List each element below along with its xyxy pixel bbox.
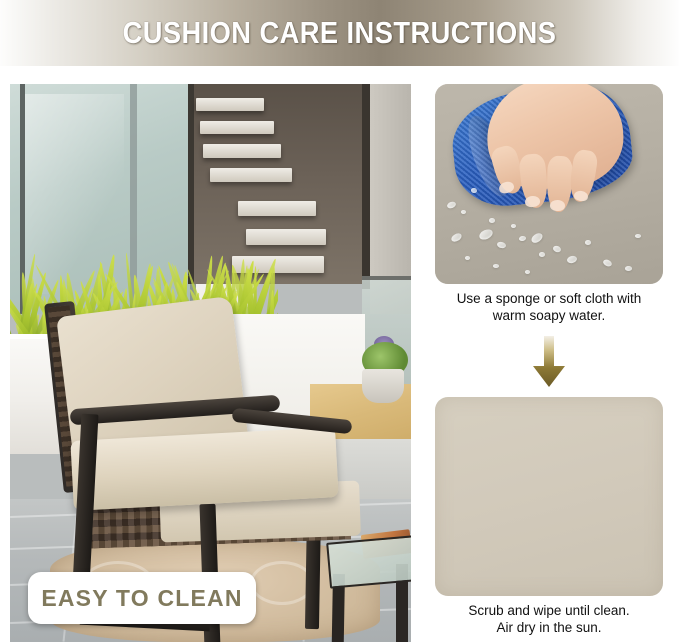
easy-to-clean-badge: EASY TO CLEAN [28,572,256,624]
water-droplet [625,266,632,271]
water-droplet [465,256,470,260]
floating-stair [246,229,326,245]
floating-stair [238,201,316,216]
floating-stair [200,121,274,134]
floating-stair [203,144,281,158]
header-banner: CUSHION CARE INSTRUCTIONS [0,0,679,66]
side-table-top [326,535,411,588]
caption-line: Use a sponge or soft cloth with [435,290,663,307]
caption-line: Scrub and wipe until clean. [435,602,663,619]
seat-cushion [70,427,338,511]
rug-pattern [250,561,314,605]
step-dry-image [435,397,663,596]
water-droplet [525,270,530,274]
door-frame [362,84,370,289]
step-dry-caption: Scrub and wipe until clean. Air dry in t… [435,602,663,636]
step-arrow [435,336,663,392]
fingernail [550,200,565,212]
water-droplet [635,234,641,238]
railing-cap [362,276,411,280]
water-droplet [585,240,591,245]
instructions-column: Use a sponge or soft cloth with warm soa… [435,84,663,642]
down-arrow-icon [532,336,566,388]
page-title: CUSHION CARE INSTRUCTIONS [41,0,639,66]
caption-line: Air dry in the sun. [435,619,663,636]
product-photo [10,84,411,642]
water-droplet [493,264,499,268]
step-wipe-caption: Use a sponge or soft cloth with warm soa… [435,290,663,324]
floating-stair [210,168,292,182]
water-droplet [539,252,545,257]
water-droplet [511,224,516,228]
water-droplet [489,218,495,223]
water-droplet [461,210,466,214]
floating-stair [196,98,264,111]
caption-line: warm soapy water. [435,307,663,324]
step-wipe-image [435,84,663,284]
easy-to-clean-label: EASY TO CLEAN [41,585,242,612]
plant-pot [362,369,404,403]
